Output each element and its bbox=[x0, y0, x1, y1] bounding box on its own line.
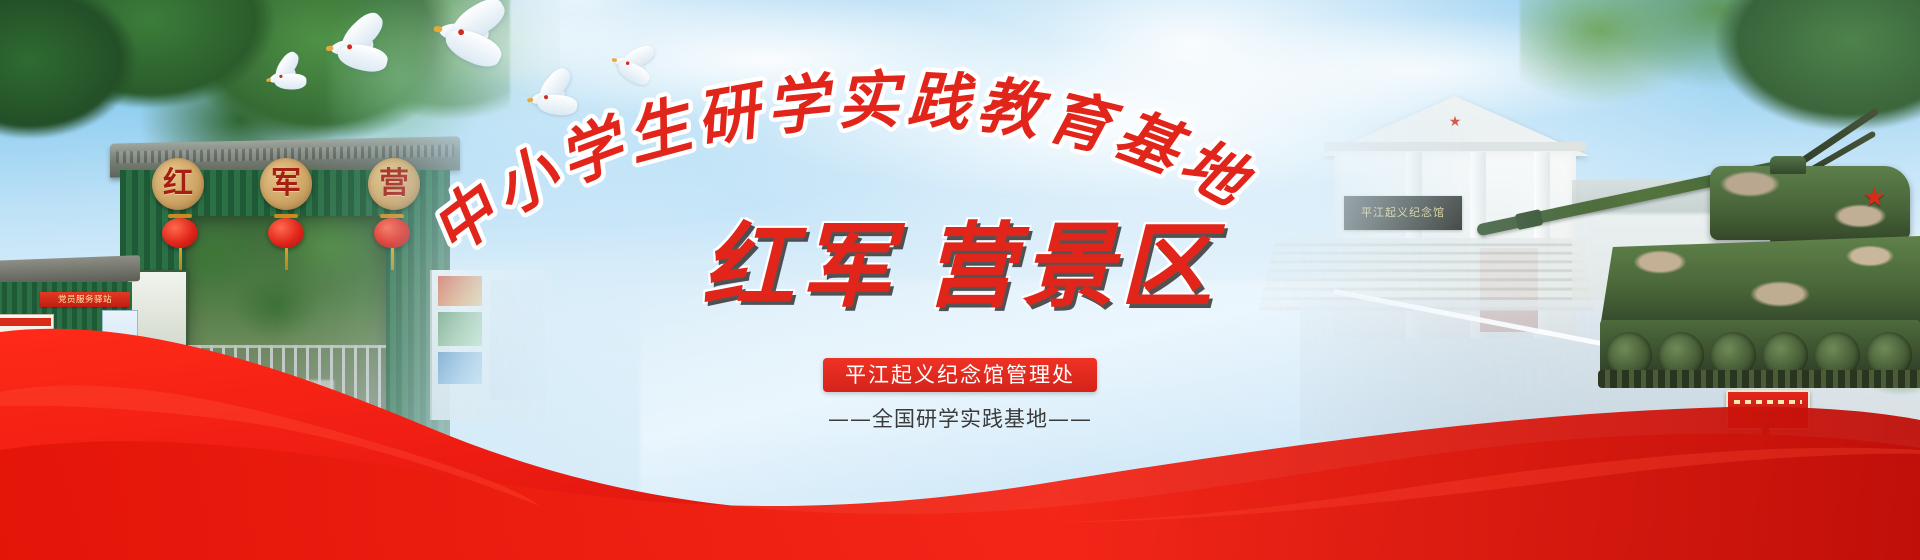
red-star-icon: ★ bbox=[1448, 114, 1462, 128]
tank-hatch bbox=[1770, 156, 1806, 174]
red-star-icon: ★ bbox=[1863, 184, 1886, 210]
page-title-part2: 营景区 bbox=[924, 212, 1218, 320]
scenic-area-hero-banner: 红 军 营 仙姑岩·红军营 景区入口 党员服务驿站 bbox=[0, 0, 1920, 560]
dove-beak bbox=[434, 26, 443, 32]
dove-beak bbox=[612, 58, 618, 62]
page-title-part1: 红军 bbox=[702, 212, 898, 320]
badge-container: 平江起义纪念馆管理处 bbox=[0, 358, 1920, 392]
gate-plaque: 军 bbox=[260, 158, 312, 210]
subtitle-text: ——全国研学实践基地—— bbox=[828, 404, 1092, 434]
status-badge: 平江起义纪念馆管理处 bbox=[823, 358, 1097, 392]
page-title: 红军营景区 bbox=[0, 214, 1920, 318]
gate-plaque: 红 bbox=[152, 158, 204, 210]
gate-plaque: 营 bbox=[368, 158, 420, 210]
subtitle-container: ——全国研学实践基地—— bbox=[0, 404, 1920, 434]
